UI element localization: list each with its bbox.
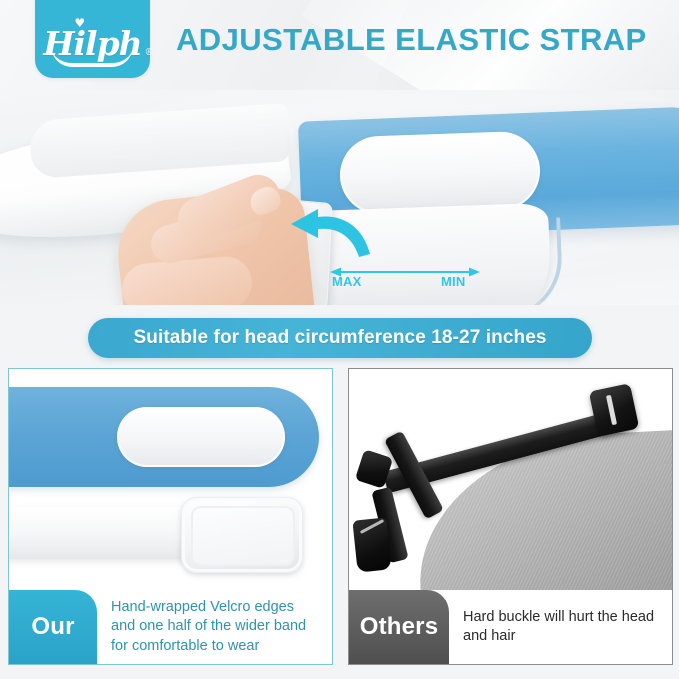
our-rectangular-velcro-patch-inner bbox=[191, 506, 295, 566]
page-title: ADJUSTABLE ELASTIC STRAP bbox=[176, 22, 647, 58]
size-banner: Suitable for head circumference 18-27 in… bbox=[88, 318, 592, 358]
eye-mask-piping-edge bbox=[406, 217, 563, 305]
registered-trademark-icon: ® bbox=[145, 49, 153, 58]
others-panel: Others Hard buckle will hurt the head an… bbox=[348, 368, 673, 665]
our-tag: Our bbox=[9, 590, 97, 664]
product-infographic: ♥ Hilph ® ADJUSTABLE ELASTIC STRAP bbox=[0, 0, 679, 679]
brand-logo: ♥ Hilph ® bbox=[35, 0, 150, 78]
logo-brand-name: Hilph bbox=[43, 24, 141, 63]
others-description: Hard buckle will hurt the head and hair bbox=[449, 590, 672, 664]
logo-wordmark: ♥ Hilph ® bbox=[43, 27, 141, 78]
min-label: MIN bbox=[441, 274, 465, 289]
our-narrow-white-band bbox=[9, 507, 209, 559]
curved-left-arrow-icon bbox=[288, 208, 374, 260]
heart-icon: ♥ bbox=[74, 18, 85, 29]
hero-product-photo: MAX MIN bbox=[0, 90, 679, 305]
others-caption: Others Hard buckle will hurt the head an… bbox=[349, 590, 672, 664]
velcro-loop-patch bbox=[339, 131, 542, 216]
our-description: Hand-wrapped Velcro edges and one half o… bbox=[97, 590, 332, 664]
our-caption: Our Hand-wrapped Velcro edges and one ha… bbox=[9, 590, 332, 664]
our-rounded-velcro-patch bbox=[117, 407, 285, 467]
others-tag: Others bbox=[349, 590, 449, 664]
comparison-section: Our Hand-wrapped Velcro edges and one ha… bbox=[0, 368, 679, 679]
header-bar: ♥ Hilph ® ADJUSTABLE ELASTIC STRAP bbox=[0, 0, 679, 96]
our-product-photo bbox=[9, 369, 332, 590]
others-product-photo bbox=[349, 369, 672, 590]
our-panel: Our Hand-wrapped Velcro edges and one ha… bbox=[8, 368, 333, 665]
size-banner-text: Suitable for head circumference 18-27 in… bbox=[133, 327, 546, 349]
max-label: MAX bbox=[332, 274, 362, 289]
